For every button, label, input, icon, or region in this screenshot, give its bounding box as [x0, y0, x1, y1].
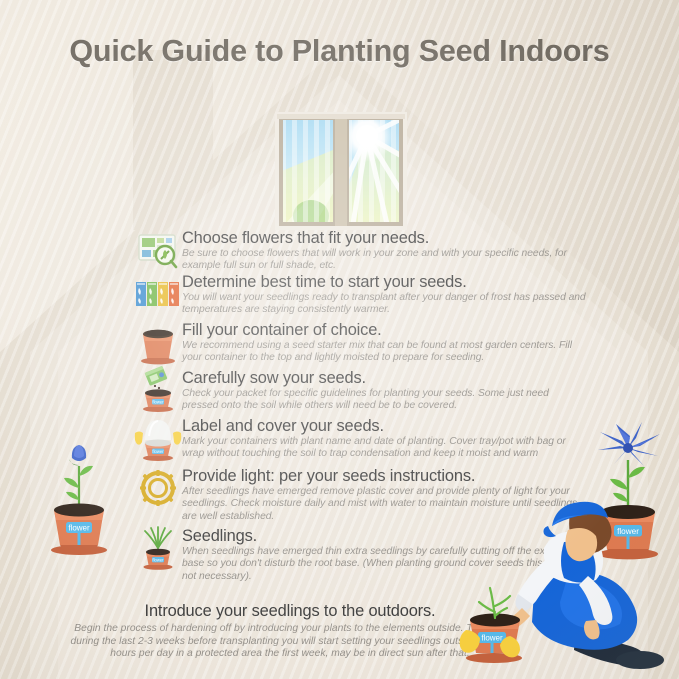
step-heading: Provide light: per your seeds instructio… [182, 466, 586, 486]
filled-pot-icon [134, 321, 182, 369]
svg-text:flower: flower [152, 449, 164, 454]
step-body: Mark your containers with plant name and… [182, 436, 586, 461]
sowing-seeds-icon: flower [134, 365, 182, 413]
svg-text:flower: flower [152, 557, 164, 562]
svg-text:flower: flower [152, 399, 164, 404]
seed-catalog-icon [134, 228, 182, 276]
step-heading: Determine best time to start your seeds. [182, 272, 586, 292]
step-body: We recommend using a seed starter mix th… [182, 340, 586, 365]
sunlit-window [275, 112, 407, 230]
kneeling-gardener-planting-seedling: flower [448, 496, 679, 679]
page-title: Quick Guide to Planting Seed Indoors [0, 34, 679, 69]
step-item: flower Carefully sow your seeds. Check y… [134, 368, 586, 416]
seed-packets-icon [134, 274, 182, 322]
seedling-pot-icon: flower [134, 522, 182, 570]
step-body: Be sure to choose flowers that will work… [182, 248, 586, 273]
step-heading: Label and cover your seeds. [182, 416, 586, 436]
step-heading: Fill your container of choice. [182, 320, 586, 340]
step-body: You will want your seedlings ready to tr… [182, 292, 586, 317]
svg-text:flower: flower [68, 524, 90, 533]
step-heading: Choose flowers that fit your needs. [182, 228, 586, 248]
step-item: Choose flowers that fit your needs. Be s… [134, 228, 586, 272]
infographic-poster: Quick Guide to Planting Seed Indoors Cho… [0, 0, 679, 679]
covered-pot-gloves-icon: flower [134, 414, 182, 462]
potted-blue-bud-flower: flower [36, 414, 122, 560]
sun-light-icon [134, 466, 182, 514]
step-item: flower Label and cover your seeds. Mark … [134, 416, 586, 466]
step-item: Determine best time to start your seeds.… [134, 272, 586, 320]
step-item: Fill your container of choice. We recomm… [134, 320, 586, 368]
svg-text:flower: flower [481, 634, 503, 643]
step-heading: Carefully sow your seeds. [182, 368, 586, 388]
step-body: Check your packet for specific guideline… [182, 388, 586, 413]
